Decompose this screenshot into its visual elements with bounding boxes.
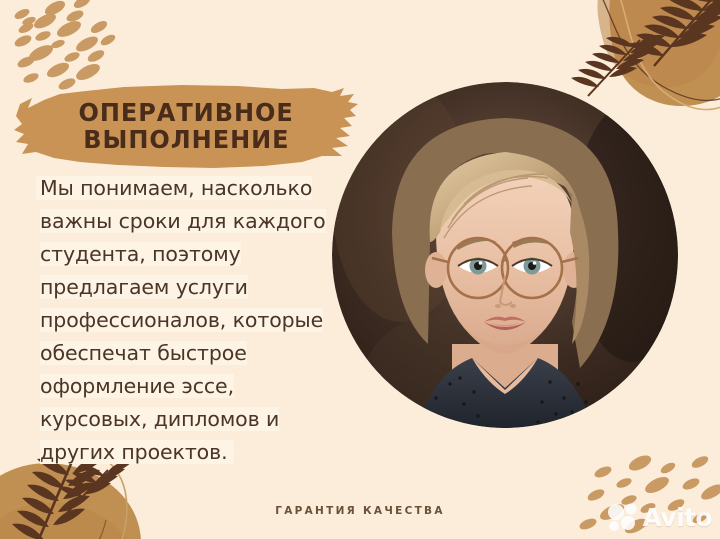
heading-banner: ОПЕРАТИВНОЕ ВЫПОЛНЕНИЕ xyxy=(14,82,359,170)
body-paragraph: Мы понимаем, насколько важны сроки для к… xyxy=(40,172,330,469)
poster-canvas: ОПЕРАТИВНОЕ ВЫПОЛНЕНИЕ Мы понимаем, наск… xyxy=(0,0,720,539)
heading-text-group: ОПЕРАТИВНОЕ ВЫПОЛНЕНИЕ xyxy=(14,82,359,170)
avito-watermark-text: Avito xyxy=(643,505,712,530)
decor-top-right xyxy=(571,0,720,110)
portrait-photo xyxy=(332,82,678,428)
decor-ovals-top-left xyxy=(13,0,117,92)
body-paragraph-text: Мы понимаем, насколько важны сроки для к… xyxy=(40,176,326,464)
avito-logo-icon xyxy=(606,503,640,531)
heading-line-1: ОПЕРАТИВНОЕ xyxy=(79,100,294,126)
body-text-block: Мы понимаем, насколько важны сроки для к… xyxy=(40,172,330,469)
avito-watermark: Avito xyxy=(606,503,712,531)
heading-line-2: ВЫПОЛНЕНИЕ xyxy=(83,127,289,153)
